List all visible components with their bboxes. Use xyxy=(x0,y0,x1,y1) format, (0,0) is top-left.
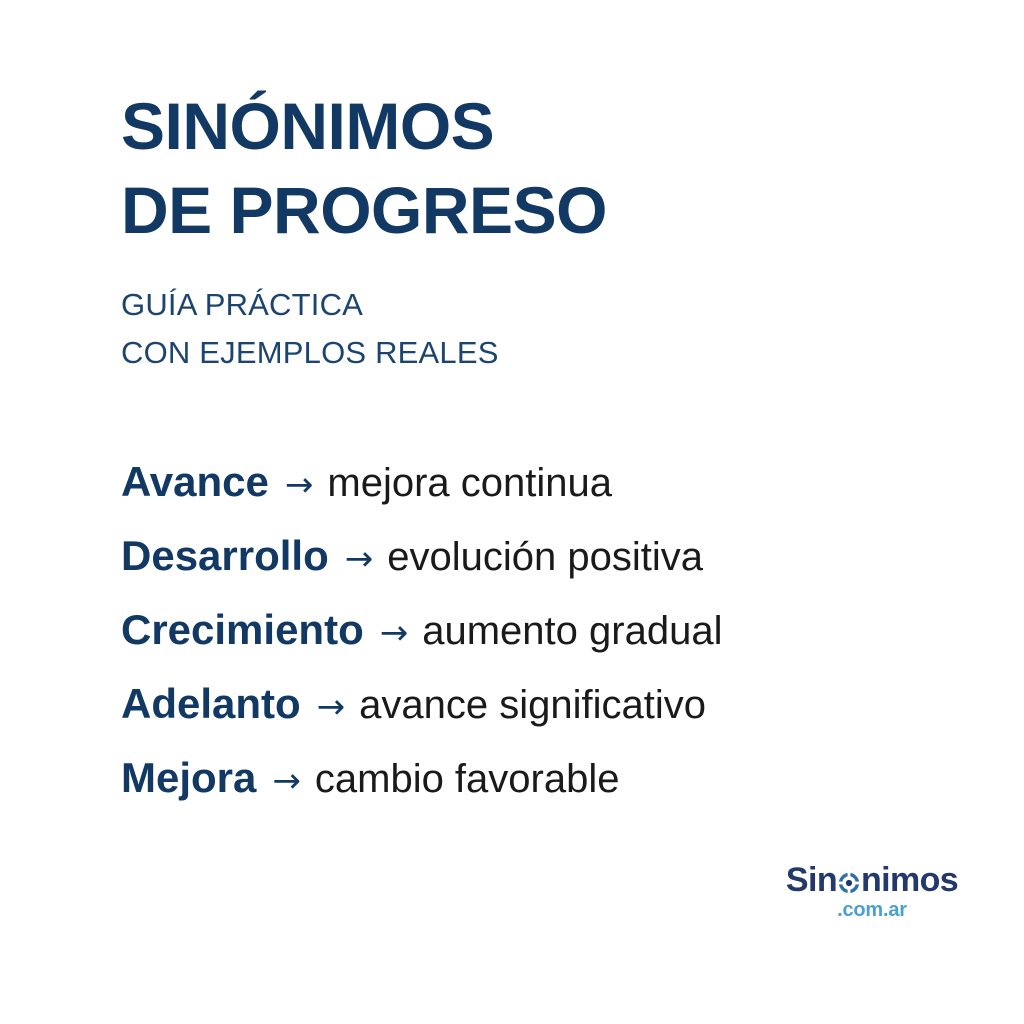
arrow-right-icon: → xyxy=(317,682,346,732)
synonym-term: Mejora xyxy=(121,753,256,803)
synonym-term: Avance xyxy=(121,457,269,507)
page-subtitle-line-1: GUÍA PRÁCTICA xyxy=(121,281,981,329)
synonym-term: Desarrollo xyxy=(121,531,329,581)
page-title-line-1: SINÓNIMOS xyxy=(121,84,981,168)
synonym-term: Crecimiento xyxy=(121,605,364,655)
brand-logo[interactable]: Sin xyxy=(782,862,962,920)
page-subtitle: GUÍA PRÁCTICA CON EJEMPLOS REALES xyxy=(121,281,981,377)
page-title: SINÓNIMOS DE PROGRESO xyxy=(121,84,981,252)
synonym-definition: mejora continua xyxy=(327,458,612,508)
segmented-circle-icon xyxy=(838,872,860,894)
brand-name-part-2: nimos xyxy=(861,863,958,897)
arrow-right-icon: → xyxy=(380,608,409,658)
list-item: Mejora → cambio favorable xyxy=(121,753,1001,827)
list-item: Desarrollo → evolución positiva xyxy=(121,531,1001,605)
synonym-definition: cambio favorable xyxy=(315,754,620,804)
brand-wordmark: Sin xyxy=(782,862,962,898)
brand-tld: .com.ar xyxy=(782,900,962,920)
arrow-right-icon: → xyxy=(285,460,314,510)
poster-canvas: SINÓNIMOS DE PROGRESO GUÍA PRÁCTICA CON … xyxy=(0,0,1024,1024)
page-title-line-2: DE PROGRESO xyxy=(121,168,981,252)
arrow-right-icon: → xyxy=(345,534,374,584)
synonym-definition: avance significativo xyxy=(359,680,706,730)
synonym-term: Adelanto xyxy=(121,679,301,729)
synonym-definition: evolución positiva xyxy=(387,532,703,582)
synonym-definition: aumento gradual xyxy=(422,606,722,656)
list-item: Adelanto → avance significativo xyxy=(121,679,1001,753)
brand-name-part-1: Sin xyxy=(786,863,837,897)
arrow-right-icon: → xyxy=(272,756,301,806)
list-item: Avance → mejora continua xyxy=(121,457,1001,531)
synonym-list: Avance → mejora continua Desarrollo → ev… xyxy=(121,457,1001,827)
page-subtitle-line-2: CON EJEMPLOS REALES xyxy=(121,329,981,377)
list-item: Crecimiento → aumento gradual xyxy=(121,605,1001,679)
